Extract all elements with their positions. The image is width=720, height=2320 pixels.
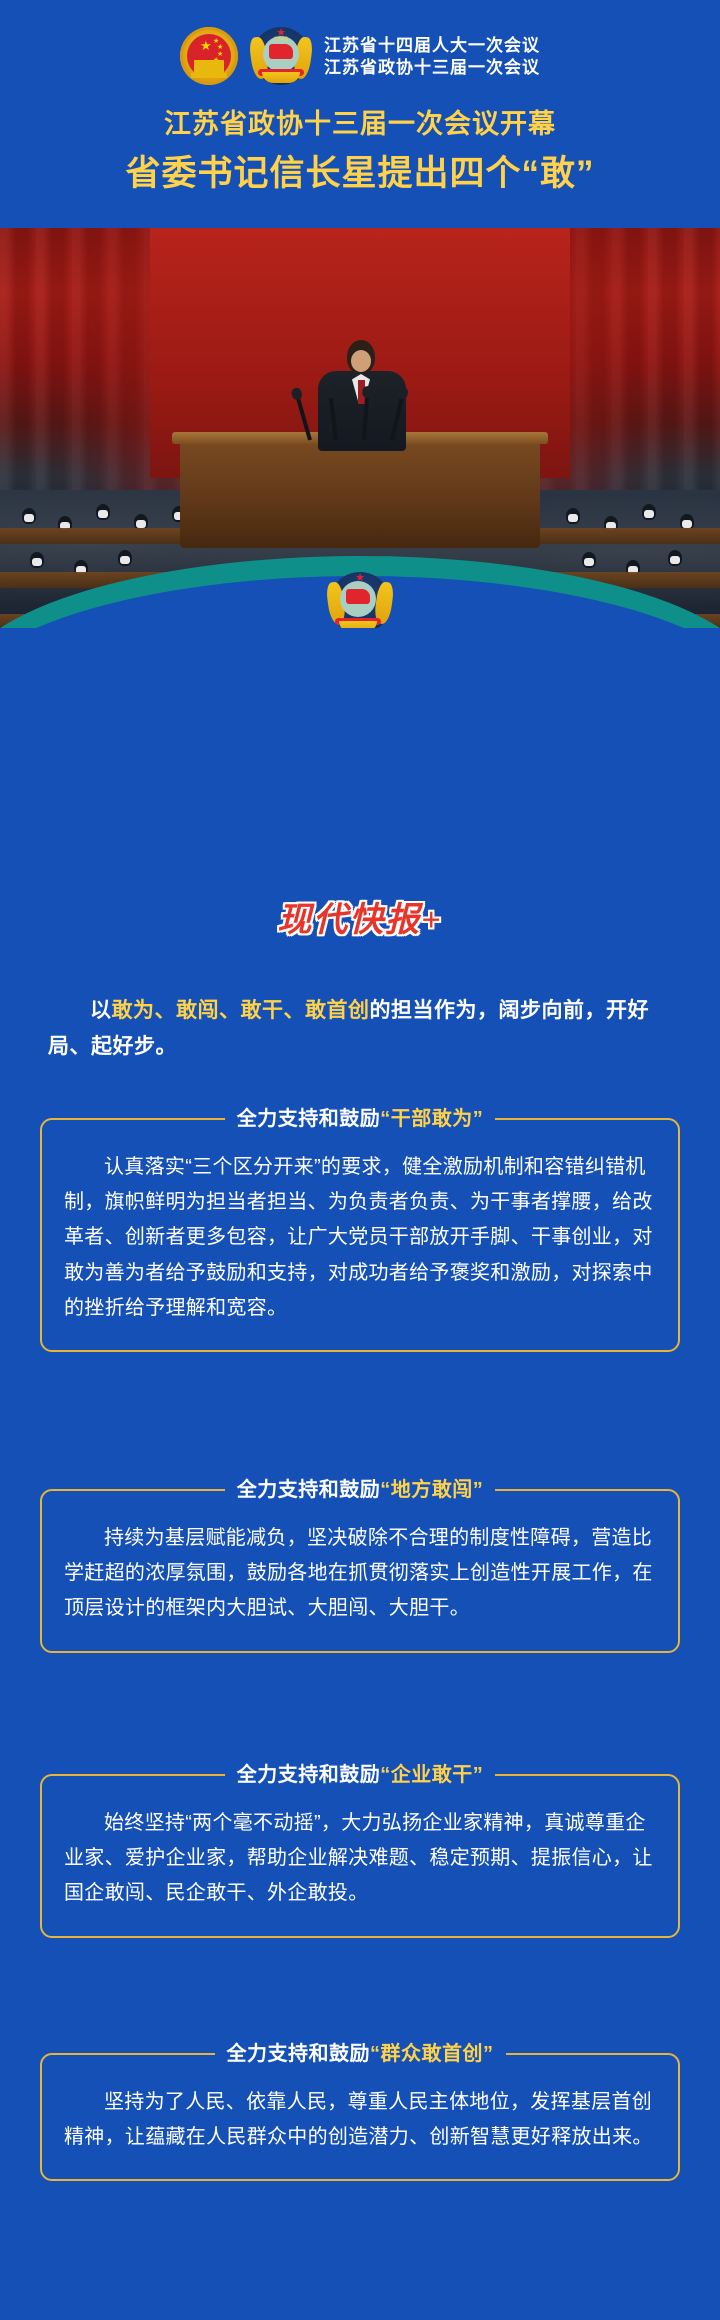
headline-line-2: 省委书记信长星提出四个“敢” (0, 152, 720, 196)
cppcc-emblem-icon: 1949 ★ (252, 27, 310, 85)
card-body-text: 认真落实“三个区分开来”的要求，健全激励机制和容错纠错机制，旗帜鲜明为担当者担当… (42, 1120, 678, 1350)
audience-head (118, 550, 132, 566)
audience-head (566, 508, 580, 524)
national-emblem-icon: ★ ★ ★ ★ ★ (180, 27, 238, 85)
microphone-icon (362, 392, 369, 440)
podium (180, 438, 540, 548)
cppcc-base (339, 621, 377, 628)
intro-prefix: 以 (90, 999, 112, 1022)
header-title-line-2: 江苏省政协十三届一次会议 (324, 59, 540, 76)
tiananmen-gate-shape (194, 60, 224, 73)
cppcc-top-star-icon: ★ (276, 28, 286, 39)
card-gan-bu-gan-wei: 全力支持和鼓励“干部敢为” 认真落实“三个区分开来”的要求，健全激励机制和容错纠… (40, 1118, 680, 1352)
national-emblem-big-star: ★ (200, 39, 212, 52)
microphone-icon (390, 393, 405, 441)
audience-head (642, 504, 656, 520)
cppcc-emblem-icon-footer: ★ (329, 572, 391, 628)
speaker-face (351, 350, 371, 372)
brand-logo-block: 现代快报+ (0, 892, 720, 941)
microphone-cluster (300, 378, 424, 440)
header-title-group: 江苏省十四届人大一次会议 江苏省政协十三届一次会议 (324, 37, 540, 76)
cppcc-flag (346, 589, 370, 604)
card-body-text: 始终坚持“两个毫不动摇”，大力弘扬企业家精神，真诚尊重企业家、爱护企业家，帮助企… (42, 1776, 678, 1936)
header-title-line-1: 江苏省十四届人大一次会议 (324, 37, 540, 54)
card-body-text: 坚持为了人民、依靠人民，尊重人民主体地位，发挥基层首创精神，让蕴藏在人民群众中的… (42, 2055, 678, 2179)
brand-logo[interactable]: 现代快报+ (277, 892, 442, 941)
cppcc-top-star-icon: ★ (355, 573, 365, 584)
intro-highlight: 敢为、敢闯、敢干、敢首创 (112, 999, 370, 1022)
card-qun-zhong-gan-shou-chuang: 全力支持和鼓励“群众敢首创” 坚持为了人民、依靠人民，尊重人民主体地位，发挥基层… (40, 2053, 680, 2181)
headline-block: 江苏省政协十三届一次会议开幕 省委书记信长星提出四个“敢” (0, 108, 720, 196)
cppcc-flag (269, 44, 293, 59)
card-qi-ye-gan-gan: 全力支持和鼓励“企业敢干” 始终坚持“两个毫不动摇”，大力弘扬企业家精神，真诚尊… (40, 1774, 680, 1938)
audience-head (22, 508, 36, 524)
card-body-text: 持续为基层赋能减负，坚决破除不合理的制度性障碍，营造比学赶超的浓厚氛围，鼓励各地… (42, 1491, 678, 1651)
conference-opening-photo: ★ (0, 228, 720, 628)
microphone-icon (328, 392, 338, 440)
audience-head (30, 552, 44, 568)
audience-head (96, 504, 110, 520)
headline-line-1: 江苏省政协十三届一次会议开幕 (0, 108, 720, 142)
card-di-fang-gan-chuang: 全力支持和鼓励“地方敢闯” 持续为基层赋能减负，坚决破除不合理的制度性障碍，营造… (40, 1489, 680, 1653)
poster-root: ★ ★ ★ ★ ★ 1949 ★ 江苏省十四届人大一次会议 江苏省政协十三届一次… (0, 0, 720, 2320)
audience-head (668, 550, 682, 566)
audience-head (582, 552, 596, 568)
national-emblem-small-star-2: ★ (217, 44, 223, 51)
intro-paragraph: 以敢为、敢闯、敢干、敢首创的担当作为，阔步向前，开好局、起好步。 (48, 993, 676, 1065)
header-emblem-bar: ★ ★ ★ ★ ★ 1949 ★ 江苏省十四届人大一次会议 江苏省政协十三届一次… (0, 22, 720, 90)
cppcc-base (262, 72, 300, 83)
